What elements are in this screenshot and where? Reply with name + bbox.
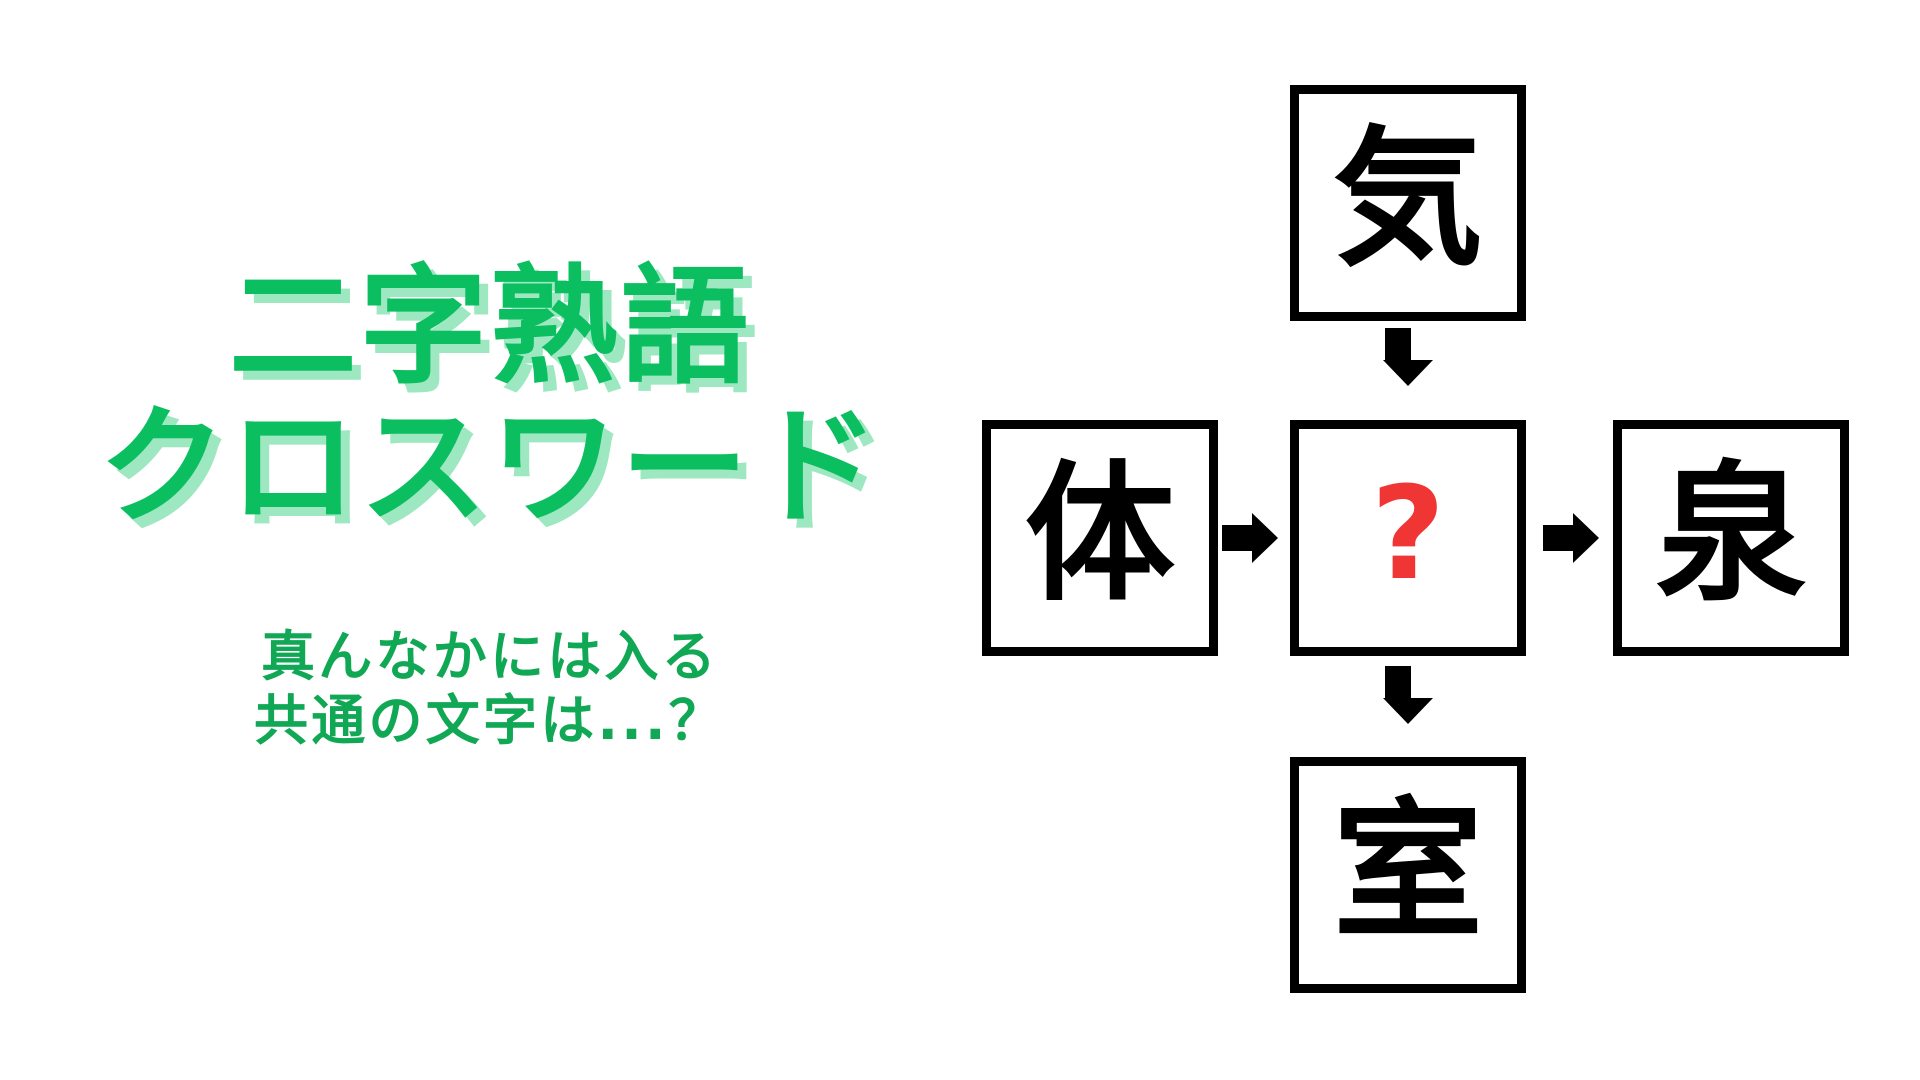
arrow-head [1252, 513, 1278, 563]
arrow-right-icon-left-to-center [1222, 523, 1278, 553]
page-title: 二字熟語 クロスワード [0, 260, 980, 535]
arrow-head [1573, 513, 1599, 563]
title-line-1: 二字熟語 [0, 260, 980, 396]
arrow-shaft [1543, 525, 1573, 551]
arrow-shaft [1385, 666, 1411, 698]
title-panel: 二字熟語 クロスワード 真んなかには入る 共通の文字は...？ [0, 230, 980, 930]
arrow-shaft [1222, 525, 1252, 551]
kanji-cell-left-char: 体 [1025, 460, 1175, 610]
kanji-cell-bottom-char: 室 [1333, 797, 1483, 947]
kanji-cell-bottom[interactable]: 室 [1290, 757, 1526, 993]
kanji-cell-right-char: 泉 [1656, 460, 1806, 610]
arrow-shaft [1385, 328, 1411, 360]
question-mark-icon: ? [1371, 471, 1445, 599]
kanji-cell-center-answer[interactable]: ? [1290, 420, 1526, 656]
kanji-cell-top-char: 気 [1333, 125, 1483, 275]
crossword-diagram: 気 体 ? 泉 室 [960, 60, 1920, 1050]
arrow-down-icon-center-to-bottom [1383, 666, 1413, 724]
slide-canvas: 二字熟語 クロスワード 真んなかには入る 共通の文字は...？ 気 体 ? 泉 … [0, 0, 1920, 1080]
kanji-cell-left[interactable]: 体 [982, 420, 1218, 656]
kanji-cell-right[interactable]: 泉 [1613, 420, 1849, 656]
subtitle-line-2: 共通の文字は...？ [0, 689, 980, 753]
arrow-head [1383, 360, 1433, 386]
arrow-head [1383, 698, 1433, 724]
subtitle-line-1: 真んなかには入る [0, 625, 980, 689]
arrow-down-icon-top-to-center [1383, 328, 1413, 386]
kanji-cell-top[interactable]: 気 [1290, 85, 1526, 321]
arrow-right-icon-center-to-right [1543, 523, 1599, 553]
subtitle: 真んなかには入る 共通の文字は...？ [0, 625, 980, 752]
title-line-2: クロスワード [0, 400, 980, 536]
